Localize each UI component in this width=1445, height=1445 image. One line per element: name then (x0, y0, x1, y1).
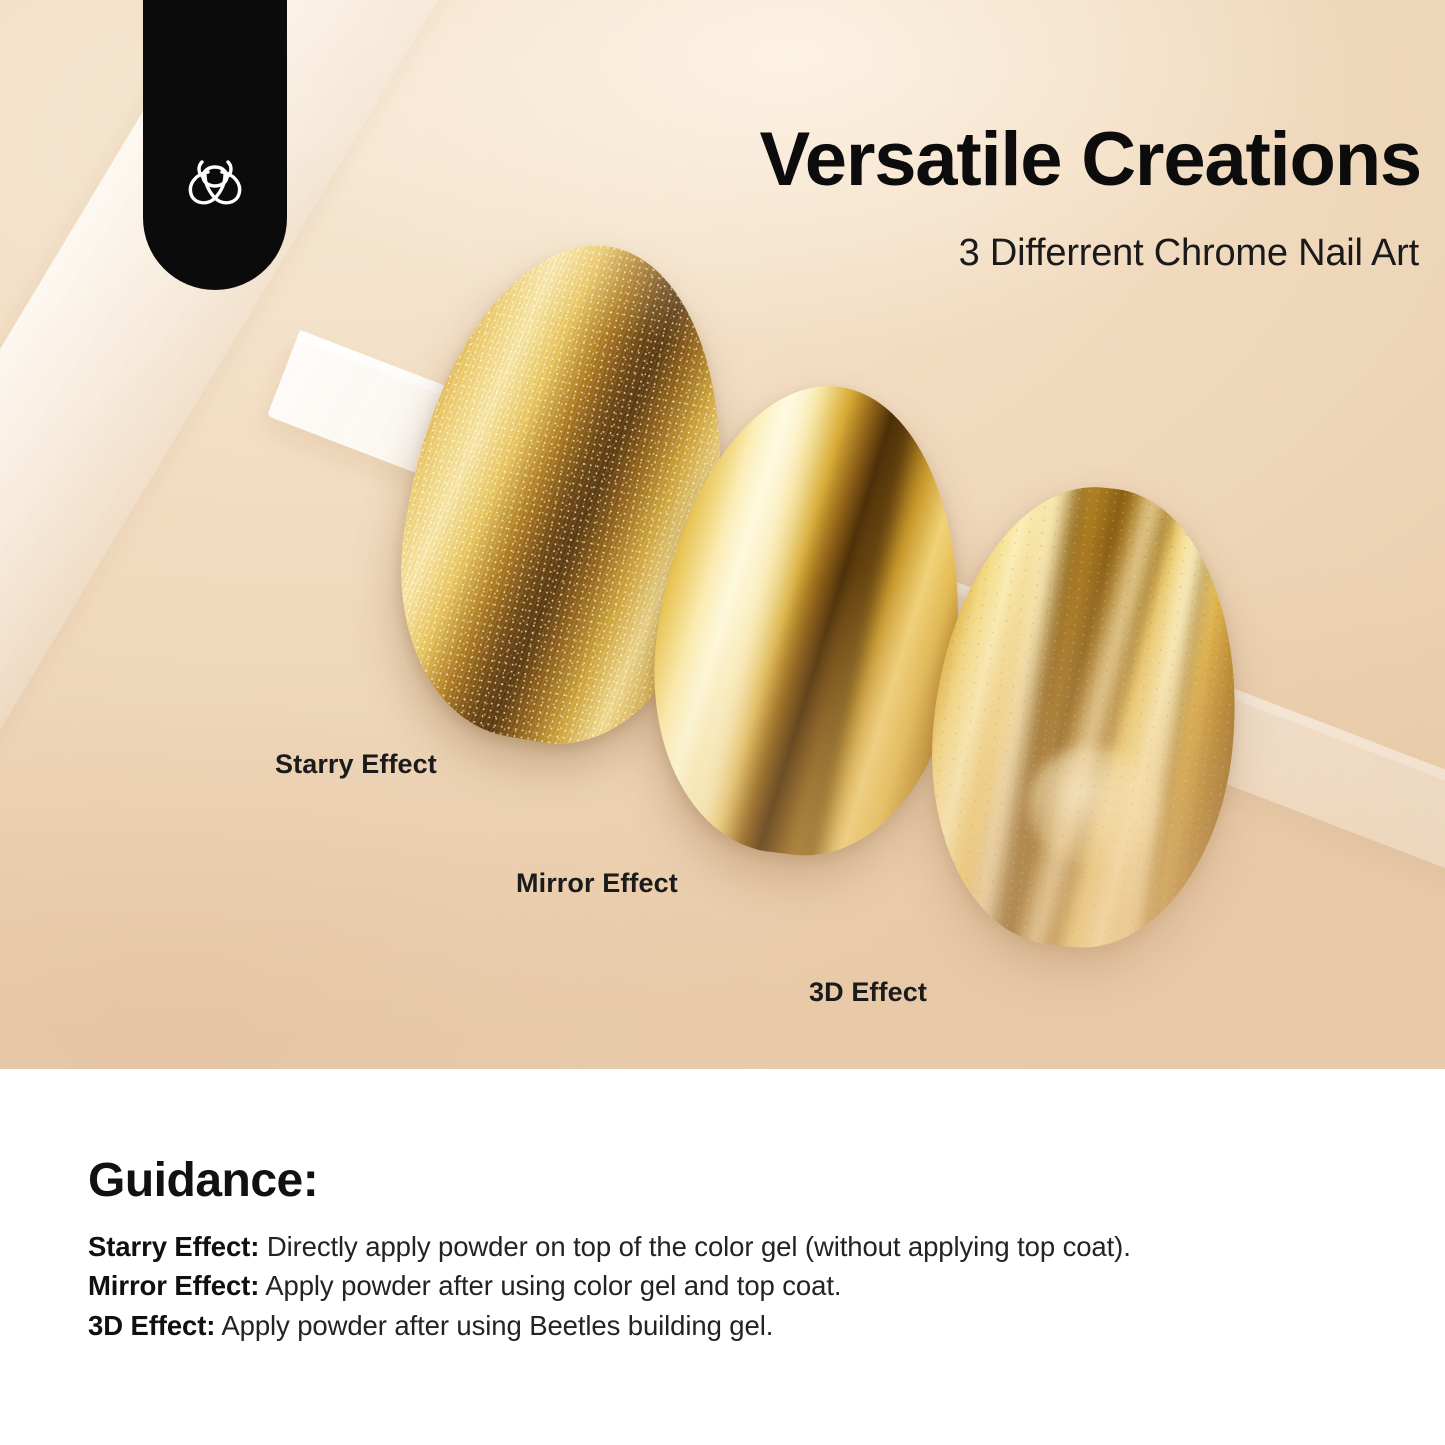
guidance-text-starry: Directly apply powder on top of the colo… (259, 1231, 1130, 1262)
guidance-list: Starry Effect: Directly apply powder on … (88, 1227, 1405, 1345)
product-infographic: Versatile Creations 3 Differrent Chrome … (0, 0, 1445, 1445)
guidance-text-mirror: Apply powder after using color gel and t… (259, 1270, 841, 1301)
guidance-item-3d: 3D Effect: Apply powder after using Beet… (88, 1306, 1405, 1345)
guidance-heading: Guidance: (88, 1153, 318, 1208)
guidance-item-starry: Starry Effect: Directly apply powder on … (88, 1227, 1405, 1266)
guidance-term-3d: 3D Effect: (88, 1310, 215, 1341)
guidance-text-3d: Apply powder after using Beetles buildin… (215, 1310, 773, 1341)
3d-nail-speckle (912, 473, 1258, 962)
guidance-term-starry: Starry Effect: (88, 1231, 259, 1262)
page-title: Versatile Creations (0, 122, 1421, 198)
hero-photo-panel: Versatile Creations 3 Differrent Chrome … (0, 0, 1445, 1069)
callout-starry-effect: Starry Effect (275, 749, 437, 780)
callout-3d-effect: 3D Effect (809, 977, 927, 1008)
guidance-panel: Guidance: Starry Effect: Directly apply … (0, 1069, 1445, 1445)
guidance-term-mirror: Mirror Effect: (88, 1270, 259, 1301)
guidance-item-mirror: Mirror Effect: Apply powder after using … (88, 1266, 1405, 1305)
callout-mirror-effect: Mirror Effect (516, 868, 678, 899)
3d-effect-nail (912, 473, 1258, 962)
page-subtitle: 3 Differrent Chrome Nail Art (0, 233, 1419, 275)
